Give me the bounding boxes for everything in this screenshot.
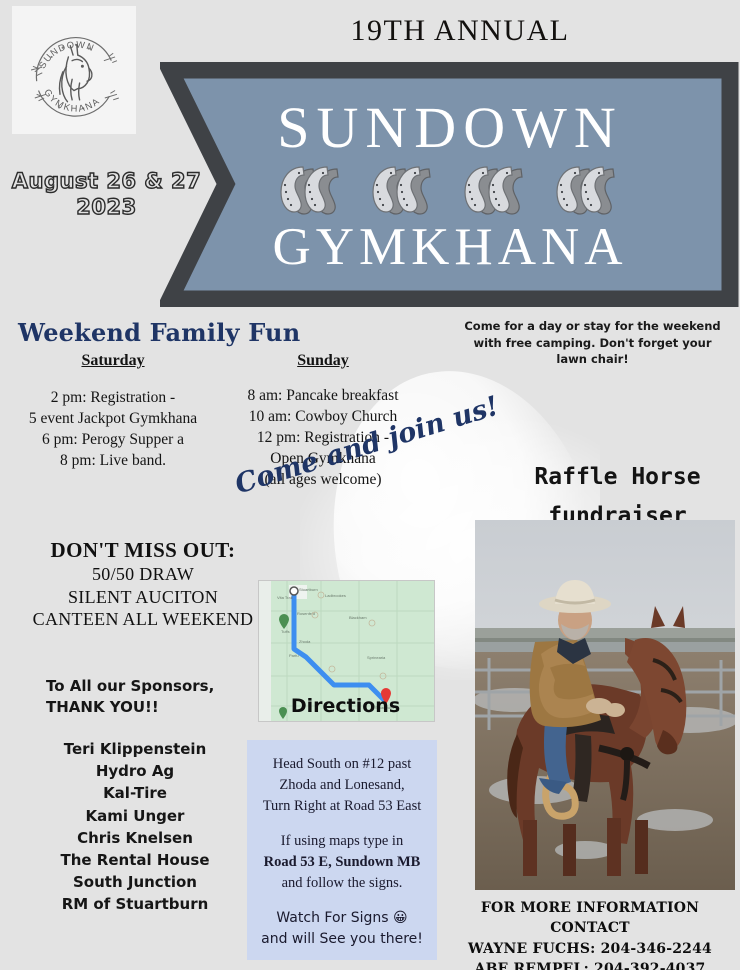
directions-card: Head South on #12 past Zhoda and Lonesan… [247,740,437,960]
sponsor-name: RM of Stuartburn [20,893,250,915]
event-poster: SUNDOWN GYMKHANA August 26 & [0,0,740,970]
contact-person-2: ABE REMPEL: 204-392-4037 [440,959,740,970]
sponsors-thanks: To All our Sponsors, THANK YOU!! [20,676,250,718]
schedule-day-name: Saturday [8,352,218,370]
horseshoe-row [273,161,627,221]
sponsor-name: South Junction [20,871,250,893]
directions-line: Zhoda and Lonesand, [257,775,427,796]
camping-note-line: Come for a day or stay for the weekend [455,318,730,335]
sponsor-name: Kami Unger [20,805,250,827]
horseshoe-pair-icon [273,161,351,221]
contact-block: FOR MORE INFORMATION CONTACT WAYNE FUCHS… [440,898,740,970]
directions-address: Road 53 E, Sundown MB [257,852,427,873]
svg-text:Stuartburn: Stuartburn [299,587,318,592]
schedule-line: 8 am: Pancake breakfast [218,386,428,407]
spacer [257,817,427,831]
schedule-columns: Saturday 2 pm: Registration - 5 event Ja… [8,352,428,491]
sundown-gymkhana-logo: SUNDOWN GYMKHANA [12,6,136,134]
dont-miss-out-item: CANTEEN ALL WEEKEND [18,608,268,631]
watch-for-signs-text: Watch For Signs [276,910,388,926]
svg-text:Vita Trail: Vita Trail [277,595,293,600]
svg-text:Parfu: Parfu [289,653,299,658]
horse-head-wreath-icon: SUNDOWN GYMKHANA [18,12,130,128]
contact-heading: FOR MORE INFORMATION CONTACT [440,898,740,939]
directions-line: If using maps type in [257,831,427,852]
camping-note-line: with free camping. Don't forget your [455,335,730,352]
sponsors-list: Teri Klippenstein Hydro Ag Kal-Tire Kami… [20,738,250,916]
sponsors-block: To All our Sponsors, THANK YOU!! Teri Kl… [20,676,250,916]
schedule-line: 5 event Jackpot Gymkhana [8,409,218,430]
sponsor-name: The Rental House [20,849,250,871]
smiley-face-icon: 😀 [393,910,408,926]
dont-miss-out-item: SILENT AUCITON [18,586,268,609]
schedule-line: 8 pm: Live band. [8,451,218,472]
schedule-saturday: Saturday 2 pm: Registration - 5 event Ja… [8,352,218,491]
dont-miss-out-item: 50/50 DRAW [18,563,268,586]
schedule-line: 2 pm: Registration - [8,388,218,409]
svg-text:Sprinearia: Sprinearia [367,655,386,660]
spacer [257,894,427,908]
svg-text:Tuffs: Tuffs [281,629,290,634]
directions-map-label: Directions [258,695,433,717]
horseshoe-pair-icon [457,161,535,221]
sponsors-thanks-line1: To All our Sponsors, [20,676,250,697]
sponsor-name: Kal-Tire [20,782,250,804]
sponsor-name: Hydro Ag [20,760,250,782]
banner-title: SUNDOWN [277,99,622,157]
horseshoe-pair-icon [365,161,443,221]
svg-text:Ladbrookes: Ladbrookes [325,593,346,598]
see-you-there-text: and will See you there! [257,929,427,950]
camping-note-line: lawn chair! [455,351,730,368]
photo-illustration [475,520,735,890]
camping-note: Come for a day or stay for the weekend w… [455,318,730,368]
dont-miss-out-title: DON'T MISS OUT: [18,538,268,563]
directions-line: and follow the signs. [257,873,427,894]
svg-text:Blackham: Blackham [349,615,367,620]
schedule-line: 6 pm: Perogy Supper a [8,430,218,451]
main-banner: SUNDOWN [160,62,740,307]
cowboy-on-horse-photo [475,520,735,890]
schedule-day-name: Sunday [218,352,428,370]
raffle-line1: Raffle Horse [500,458,735,497]
directions-line: Head South on #12 past [257,754,427,775]
contact-person-1: WAYNE FUCHS: 204-346-2244 [440,939,740,959]
weekend-family-fun-heading: Weekend Family Fun [18,318,300,347]
watch-for-signs-line: Watch For Signs 😀 [257,908,427,929]
svg-text:Zhoda: Zhoda [299,639,311,644]
banner-subtitle: GYMKHANA [272,221,627,274]
sponsor-name: Teri Klippenstein [20,738,250,760]
horseshoe-pair-icon [549,161,627,221]
sponsors-thanks-line2: THANK YOU!! [20,697,250,718]
dont-miss-out-block: DON'T MISS OUT: 50/50 DRAW SILENT AUCITO… [18,538,268,631]
sponsor-name: Chris Knelsen [20,827,250,849]
directions-line: Turn Right at Road 53 East [257,796,427,817]
annual-label: 19TH ANNUAL [250,14,670,48]
